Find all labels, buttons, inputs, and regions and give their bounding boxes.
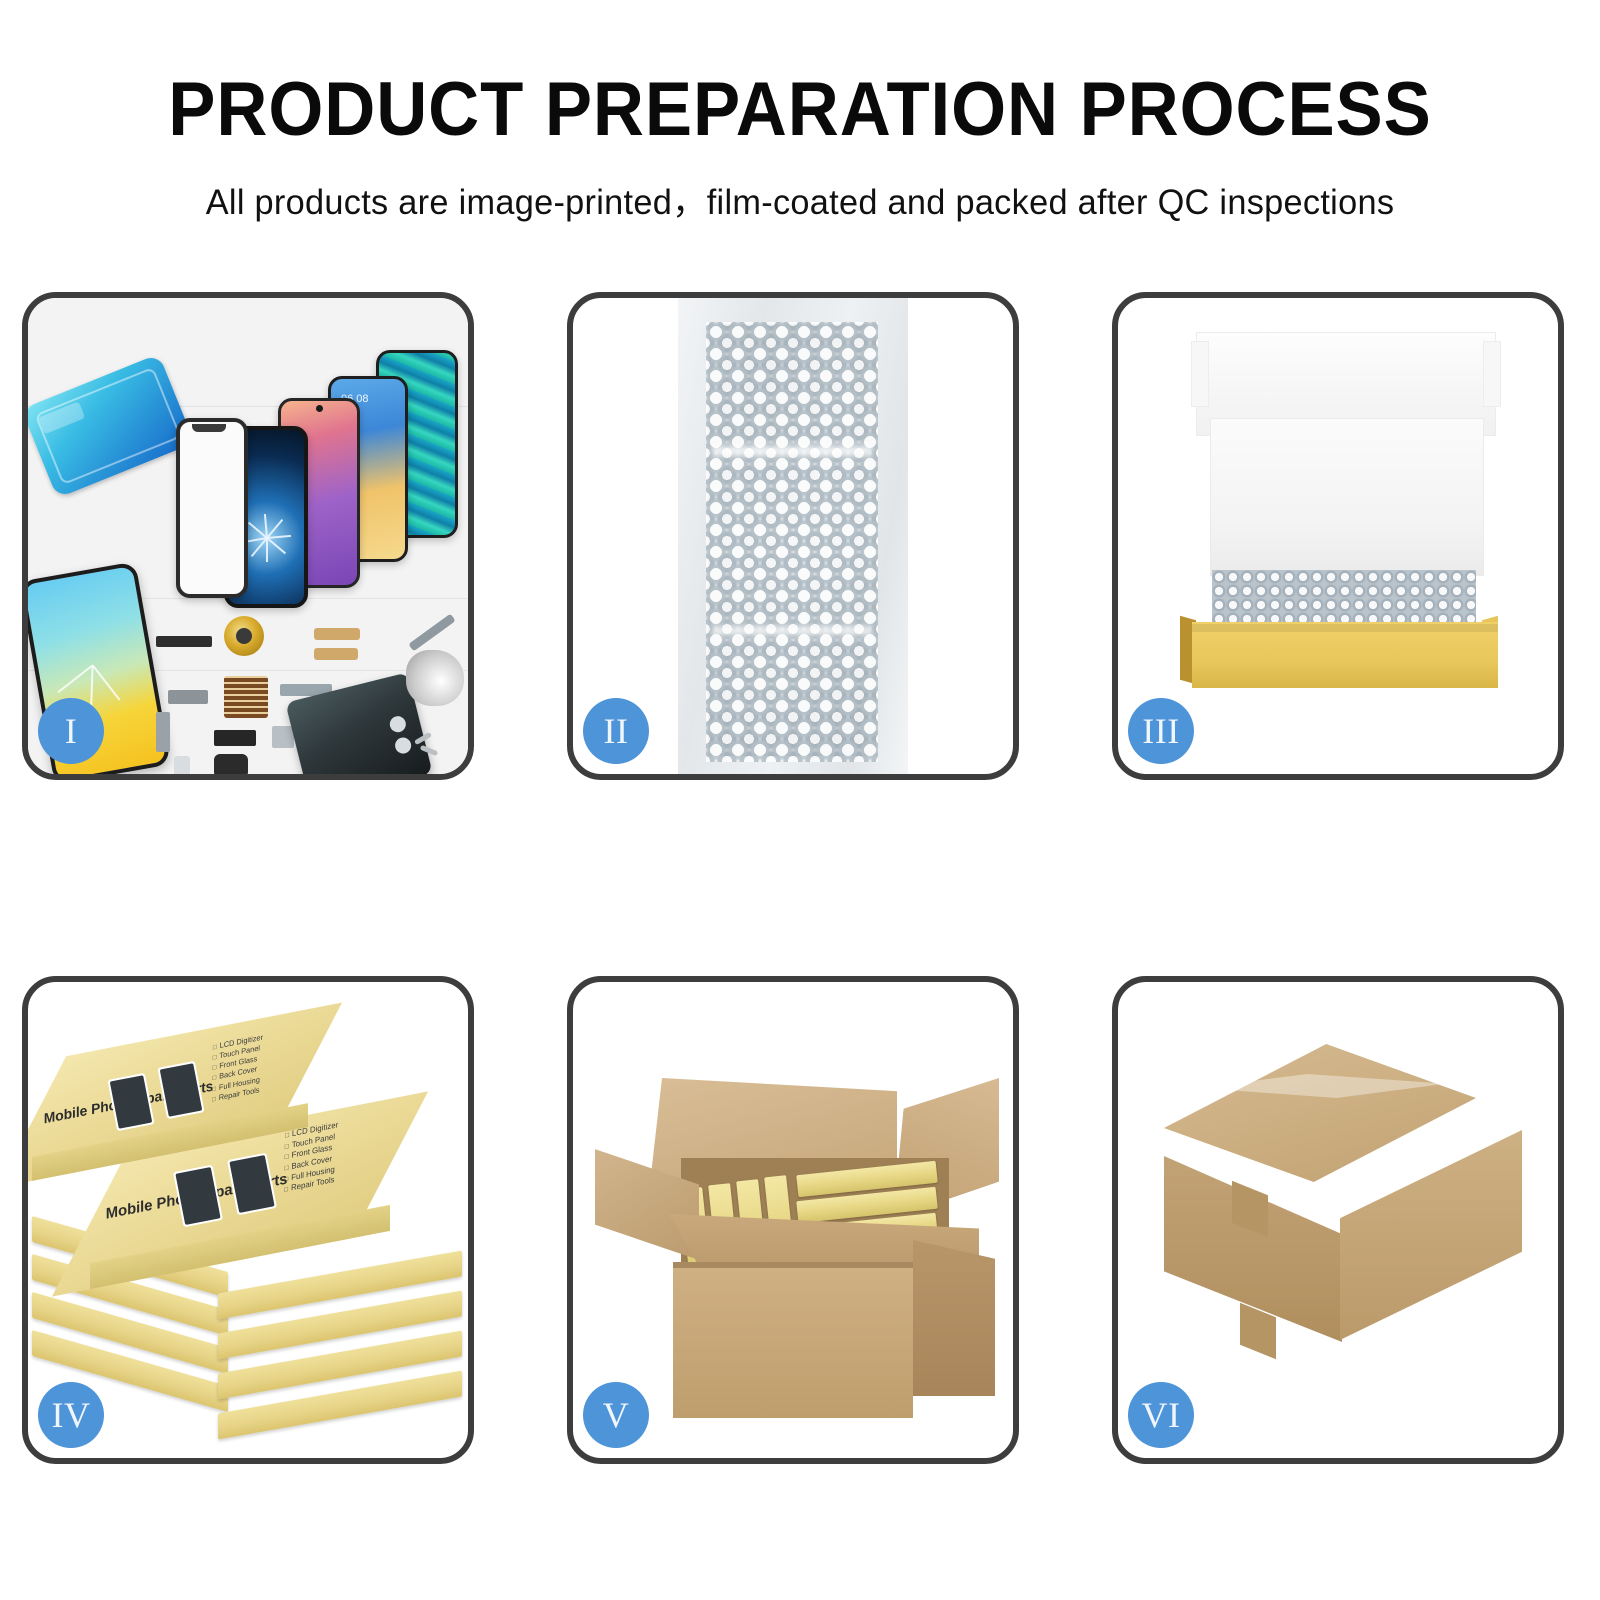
bubble-pattern xyxy=(706,322,878,762)
mailer-box-interior xyxy=(1210,418,1484,576)
step-badge-2: II xyxy=(583,698,649,764)
battery-connector-part xyxy=(156,636,212,647)
mailer-box-front-shadow xyxy=(1192,624,1498,632)
process-step-2[interactable]: II xyxy=(567,292,1019,780)
process-step-1[interactable]: 06 08 xyxy=(22,292,474,780)
crack-pattern xyxy=(242,514,290,562)
step-badge-5: V xyxy=(583,1382,649,1448)
retail-box-checklist: LCD Digitizer Touch Panel Front Glass Ba… xyxy=(284,1120,338,1196)
speaker-part xyxy=(214,730,256,746)
sim-tray-part xyxy=(174,756,190,774)
step-badge-3: III xyxy=(1128,698,1194,764)
adhesive-frame-part xyxy=(28,354,195,498)
cleaning-brush-tool xyxy=(406,650,464,706)
page-subtitle: All products are image-printed，film-coat… xyxy=(16,148,1584,225)
carton-front-face xyxy=(673,1268,913,1418)
sealed-carton-right-face xyxy=(1340,1130,1522,1340)
step-5-image xyxy=(573,982,1013,1458)
sealed-carton-top-face xyxy=(1164,1044,1476,1194)
flex-cable-part xyxy=(314,648,358,660)
step-3-image xyxy=(1118,298,1558,774)
step-badge-6: VI xyxy=(1128,1382,1194,1448)
step-1-image: 06 08 xyxy=(28,298,468,774)
flex-cable-part xyxy=(314,628,360,640)
bubble-wrapped-product-in-box xyxy=(1212,570,1476,626)
retail-box-checklist: LCD Digitizer Touch Panel Front Glass Ba… xyxy=(212,1032,263,1104)
parts-scene: 06 08 xyxy=(28,298,468,774)
plastic-sheen xyxy=(712,446,872,456)
tweezers-tool xyxy=(408,614,455,652)
process-step-4[interactable]: Mobile Phone Spare Parts LCD Digitizer T… xyxy=(22,976,474,1464)
tempered-glass-part xyxy=(176,418,248,598)
process-step-grid: 06 08 xyxy=(22,292,1578,1464)
retail-box-stack: Mobile Phone Spare Parts LCD Digitizer T… xyxy=(28,982,468,1458)
process-step-5[interactable]: V xyxy=(567,976,1019,1464)
process-step-6[interactable]: VI xyxy=(1112,976,1564,1464)
ic-chip-part xyxy=(224,676,268,718)
step-2-image xyxy=(573,298,1013,774)
step-badge-1: I xyxy=(38,698,104,764)
carton-side-face xyxy=(913,1240,995,1396)
step-badge-4: IV xyxy=(38,1382,104,1448)
antenna-flex-part xyxy=(156,712,170,752)
page-header: PRODUCT PREPARATION PROCESS All products… xyxy=(0,0,1600,225)
screws-group xyxy=(414,736,454,758)
taptic-engine-part xyxy=(214,754,248,774)
step-6-image xyxy=(1118,982,1558,1458)
camera-module-part xyxy=(272,726,294,748)
step-4-image: Mobile Phone Spare Parts LCD Digitizer T… xyxy=(28,982,468,1458)
plastic-sheen xyxy=(712,626,872,635)
process-step-3[interactable]: III xyxy=(1112,292,1564,780)
small-connector-part xyxy=(168,690,208,704)
bubble-wrap-sheet xyxy=(678,298,908,774)
page-title: PRODUCT PREPARATION PROCESS xyxy=(56,72,1544,148)
wireless-charging-coil-part xyxy=(224,616,264,656)
